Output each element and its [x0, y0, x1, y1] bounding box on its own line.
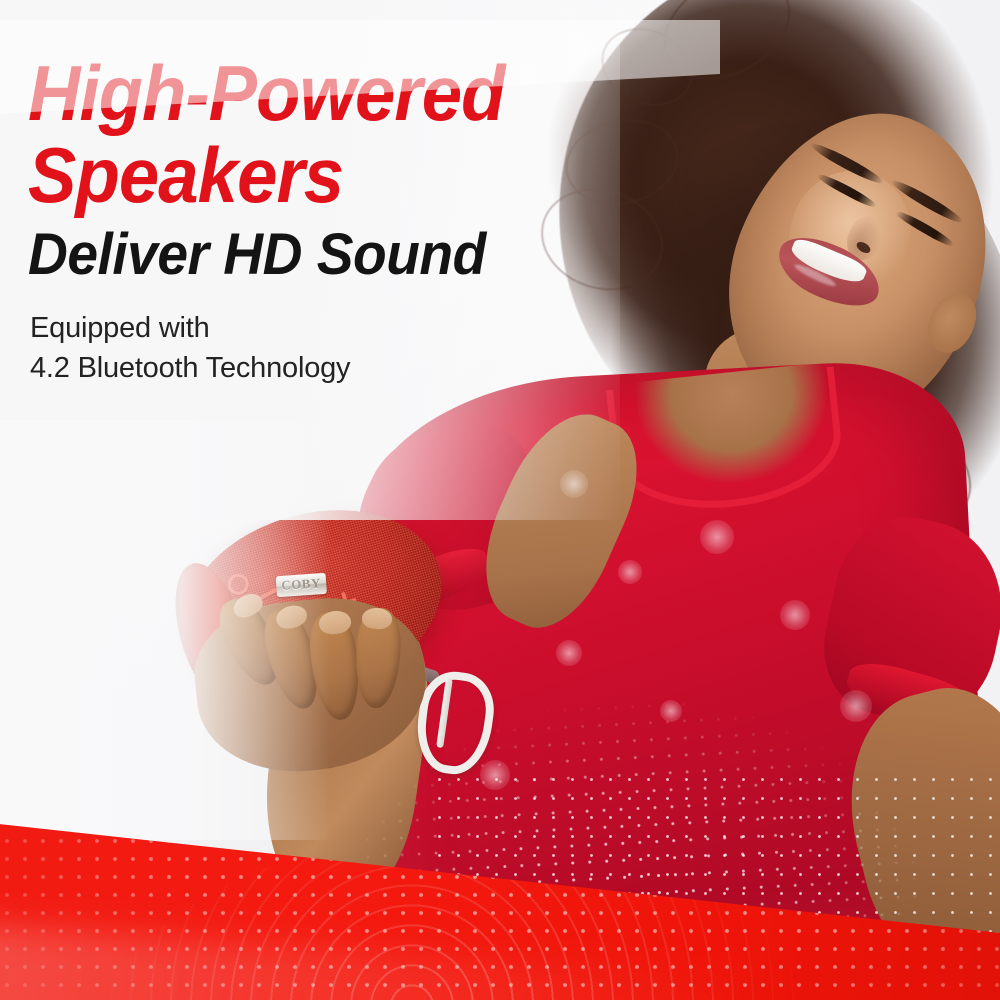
subheadline: Deliver HD Sound [28, 226, 486, 284]
body-copy-line-2: 4.2 Bluetooth Technology [30, 348, 350, 388]
body-copy-line-1: Equipped with [30, 308, 350, 348]
coby-logo-badge: COBY [276, 573, 327, 597]
fingernail [361, 607, 392, 630]
coby-logo-text: COBY [281, 575, 322, 593]
body-copy: Equipped with 4.2 Bluetooth Technology [30, 308, 350, 388]
promo-banner: ᛒ COBY [0, 0, 1000, 1000]
headline-line-1: High-Powered [28, 54, 505, 132]
headline-line-2: Speakers [28, 136, 343, 214]
